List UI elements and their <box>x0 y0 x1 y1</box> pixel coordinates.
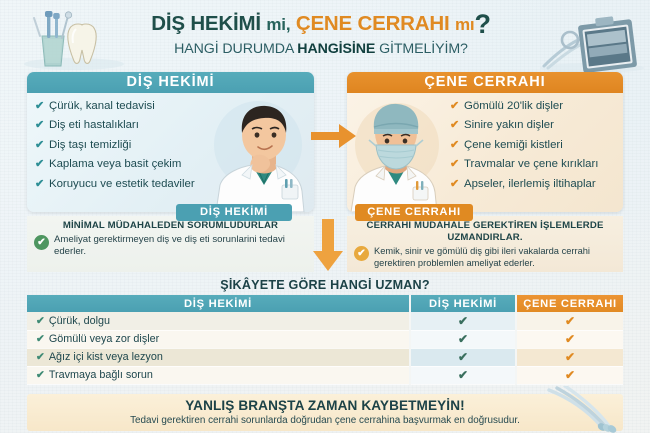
panel-dentist-heading: DİŞ HEKİMİ <box>27 72 314 93</box>
list-item: ✔ Çürük, kanal tedavisi <box>35 100 195 114</box>
list-item-label: Kaplama veya basit çekim <box>49 158 195 172</box>
circle-check-icon: ✔ <box>34 235 49 250</box>
list-item-label: Koruyucu ve estetik tedaviler <box>49 178 195 192</box>
table-cell-dentist: ✔ <box>410 366 516 384</box>
check-icon: ✔ <box>36 369 45 381</box>
list-item: ✔ Gömülü 20'lik dişler <box>450 100 620 114</box>
check-icon: ✔ <box>450 119 461 133</box>
table-row: ✔Travmaya bağlı sorun ✔ ✔ <box>27 366 623 384</box>
check-icon: ✔ <box>35 100 46 114</box>
list-item-label: Travmalar ve çene kırıkları <box>464 158 620 172</box>
subtitle-bold: HANGİSİNE <box>297 41 375 57</box>
subtitle-pre: HANGİ DURUMDA <box>174 41 297 57</box>
badge-dentist: DİŞ HEKİMİ <box>176 204 292 221</box>
title-part-mi2: mı <box>455 15 474 34</box>
list-item: ✔ Sinire yakın dişler <box>450 119 620 133</box>
page-subtitle: HANGİ DURUMDA HANGİSİNE GİTMELİYİM? <box>96 41 546 57</box>
comparison-table: DİŞ HEKİMİ DİŞ HEKİMİ ÇENE CERRAHI ✔Çürü… <box>27 295 623 385</box>
description-dentist: MİNİMAL MÜDAHALEDEN SORUMLUDURLAR ✔ Amel… <box>27 216 314 272</box>
list-item-label: Sinire yakın dişler <box>464 119 620 133</box>
panel-surgeon-body: ✔ Gömülü 20'lik dişler ✔ Sinire yakın di… <box>347 93 623 212</box>
check-icon: ✔ <box>450 139 461 153</box>
table-cell-dentist: ✔ <box>410 312 516 330</box>
table-row: ✔Ağız içi kist veya lezyon ✔ ✔ <box>27 348 623 366</box>
list-item: ✔ Diş eti hastalıkları <box>35 119 195 133</box>
check-icon: ✔ <box>36 333 45 345</box>
list-item: ✔ Diş taşı temizliği <box>35 139 195 153</box>
description-dentist-row: ✔ Ameliyat gerektirmeyen diş ve diş eti … <box>27 232 314 259</box>
table-header-dentist: DİŞ HEKİMİ <box>410 295 516 312</box>
table-header-surgeon: ÇENE CERRAHI <box>516 295 623 312</box>
dentist-bullet-list: ✔ Çürük, kanal tedavisi ✔ Diş eti hastal… <box>35 100 195 197</box>
list-item: ✔ Çene kemiği kistleri <box>450 139 620 153</box>
table-cell-surgeon: ✔ <box>516 330 623 348</box>
header: DİŞ HEKİMİ mi, ÇENE CERRAHI mı? HANGİ DU… <box>0 0 650 72</box>
oral-surgeon-illustration <box>347 93 453 212</box>
check-icon: ✔ <box>36 351 45 363</box>
table-cell-complaint: ✔Ağız içi kist veya lezyon <box>27 348 410 366</box>
table-cell-surgeon: ✔ <box>516 312 623 330</box>
list-item-label: Diş eti hastalıkları <box>49 119 195 133</box>
check-icon: ✔ <box>35 178 46 192</box>
table-cell-complaint: ✔Çürük, dolgu <box>27 312 410 330</box>
table-header-complaint: DİŞ HEKİMİ <box>27 295 410 312</box>
check-icon: ✔ <box>450 178 461 192</box>
check-icon: ✔ <box>450 158 461 172</box>
table-cell-complaint: ✔Travmaya bağlı sorun <box>27 366 410 384</box>
table-cell-dentist: ✔ <box>410 348 516 366</box>
page-title: DİŞ HEKİMİ mi, ÇENE CERRAHI mı? <box>96 10 546 38</box>
check-icon: ✔ <box>36 315 45 327</box>
check-icon: ✔ <box>35 158 46 172</box>
surgeon-bullet-list: ✔ Gömülü 20'lik dişler ✔ Sinire yakın di… <box>450 100 620 197</box>
check-icon: ✔ <box>35 139 46 153</box>
title-part-mi: mi, <box>266 15 290 34</box>
comparison-table-title: ŞİKÂYETE GÖRE HANGİ UZMAN? <box>27 278 623 295</box>
table-cell-surgeon: ✔ <box>516 366 623 384</box>
description-surgeon-row: ✔ Kemik, sinir ve gömülü diş gibi ileri … <box>347 243 623 269</box>
panel-surgeon-heading: ÇENE CERRAHI <box>347 72 623 93</box>
description-dentist-text: Ameliyat gerektirmeyen diş ve diş eti so… <box>54 234 308 259</box>
table-cell-surgeon: ✔ <box>516 348 623 366</box>
list-item: ✔ Koruyucu ve estetik tedaviler <box>35 178 195 192</box>
panel-surgeon: ÇENE CERRAHI <box>347 72 623 212</box>
table-cell-dentist: ✔ <box>410 330 516 348</box>
description-surgeon-text: Kemik, sinir ve gömülü diş gibi ileri va… <box>374 245 617 269</box>
arrow-down-icon <box>311 219 345 273</box>
comparison-table-section: ŞİKÂYETE GÖRE HANGİ UZMAN? DİŞ HEKİMİ Dİ… <box>27 278 623 385</box>
table-row: ✔Gömülü veya zor dişler ✔ ✔ <box>27 330 623 348</box>
list-item-label: Çürük, kanal tedavisi <box>49 100 195 114</box>
panel-dentist: DİŞ HEKİMİ <box>27 72 314 212</box>
check-icon: ✔ <box>35 119 46 133</box>
list-item-label: Gömülü 20'lik dişler <box>464 100 620 114</box>
subtitle-post: GİTMELİYİM? <box>375 41 468 57</box>
arrow-right-icon <box>311 121 357 151</box>
description-surgeon: CERRAHİ MÜDAHALE GEREKTİREN İŞLEMLERDE U… <box>347 216 623 272</box>
footer-subtitle: Tedavi gerektiren cerrahi sorunlarda doğ… <box>27 413 623 426</box>
badge-surgeon: ÇENE CERRAHI <box>355 204 473 221</box>
footer-banner: YANLIŞ BRANŞTA ZAMAN KAYBETMEYİN! Tedavi… <box>27 394 623 431</box>
title-part-surgeon: ÇENE CERRAHI <box>296 12 450 35</box>
table-cell-complaint-label: Çürük, dolgu <box>49 315 110 327</box>
title-part-dentist: DİŞ HEKİMİ <box>151 12 261 35</box>
table-header-row: DİŞ HEKİMİ DİŞ HEKİMİ ÇENE CERRAHI <box>27 295 623 312</box>
title-question-mark: ? <box>474 9 490 39</box>
clipboard-xray-and-forceps-illustration <box>536 6 648 74</box>
list-item: ✔ Travmalar ve çene kırıkları <box>450 158 620 172</box>
check-icon: ✔ <box>450 100 461 114</box>
circle-check-icon: ✔ <box>354 246 369 261</box>
list-item: ✔ Kaplama veya basit çekim <box>35 158 195 172</box>
list-item: ✔ Apseler, ilerlemiş iltihaplar <box>450 178 620 192</box>
table-cell-complaint: ✔Gömülü veya zor dişler <box>27 330 410 348</box>
panel-dentist-body: ✔ Çürük, kanal tedavisi ✔ Diş eti hastal… <box>27 93 314 212</box>
list-item-label: Apseler, ilerlemiş iltihaplar <box>464 178 620 192</box>
list-item-label: Çene kemiği kistleri <box>464 139 620 153</box>
title-block: DİŞ HEKİMİ mi, ÇENE CERRAHI mı? HANGİ DU… <box>96 10 546 57</box>
table-cell-complaint-label: Travmaya bağlı sorun <box>49 369 153 381</box>
dental-mirror-instruments-illustration <box>543 386 621 433</box>
table-cell-complaint-label: Ağız içi kist veya lezyon <box>49 351 163 363</box>
table-row: ✔Çürük, dolgu ✔ ✔ <box>27 312 623 330</box>
infographic-page: DİŞ HEKİMİ mi, ÇENE CERRAHI mı? HANGİ DU… <box>0 0 650 433</box>
dentist-illustration <box>194 93 312 212</box>
table-cell-complaint-label: Gömülü veya zor dişler <box>49 333 159 345</box>
footer-title: YANLIŞ BRANŞTA ZAMAN KAYBETMEYİN! <box>27 394 623 413</box>
dental-tools-and-tooth-illustration <box>18 6 130 72</box>
list-item-label: Diş taşı temizliği <box>49 139 195 153</box>
